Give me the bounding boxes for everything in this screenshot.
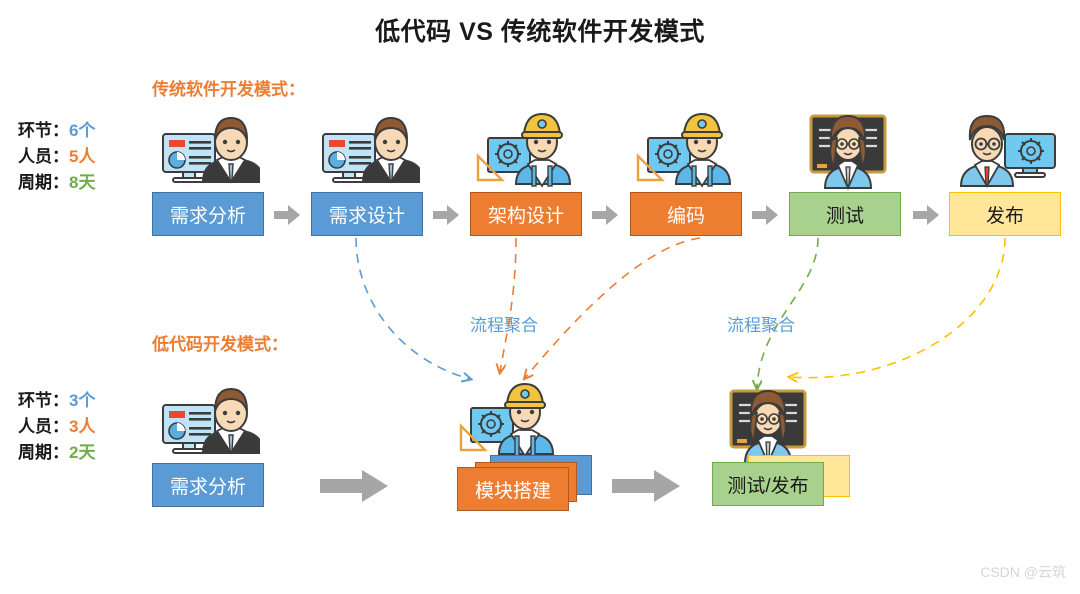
deploy-gear-monitor-icon [955,112,1060,195]
step-label: 编码 [667,201,705,228]
analyst-monitor-icon [155,112,260,195]
step-label: 需求分析 [170,201,246,228]
stat-row: 环节：3个 [18,388,95,414]
lowcode-stats: 环节：3个 人员：3人 周期：2天 [18,388,95,466]
stat-row: 人员：3人 [18,414,95,440]
step-box-testing[interactable]: 测试 [789,192,901,236]
step-box-release[interactable]: 发布 [949,192,1061,236]
stat-key: 人员： [18,417,69,436]
lowcode-section-label: 低代码开发模式： [152,330,288,355]
flow-arrow-icon [590,203,620,232]
stat-key: 人员： [18,147,69,166]
lowcode-step-box-module-build[interactable]: 模块搭建 [457,467,569,511]
page-title: 低代码 VS 传统软件开发模式 [0,12,1080,48]
curve-orange-architecture-to-module [500,238,516,372]
stat-key: 环节： [18,121,69,140]
stat-key: 环节： [18,391,69,410]
step-box-coding[interactable]: 编码 [630,192,742,236]
analyst-monitor-icon [155,383,260,466]
stat-row: 人员：5人 [18,144,95,170]
aggregation-label-right: 流程聚合 [727,311,795,336]
stat-value: 3个 [69,391,95,410]
curve-orange-coding-to-module [525,238,700,378]
stat-key: 周期： [18,173,69,192]
stat-row: 周期：8天 [18,170,95,196]
stat-row: 周期：2天 [18,440,95,466]
step-label: 模块搭建 [475,476,551,503]
step-label: 发布 [986,201,1024,228]
stat-value: 3人 [69,417,95,436]
diagram-canvas: 低代码 VS 传统软件开发模式 传统软件开发模式： 低代码开发模式： 环节：6个… [0,0,1080,594]
lowcode-step-box-test-release[interactable]: 测试/发布 [712,462,824,506]
flow-arrow-icon [750,203,780,232]
step-label: 需求分析 [170,472,246,499]
flow-arrow-large-icon [610,468,682,509]
flow-arrow-icon [431,203,461,232]
step-box-requirement-analysis[interactable]: 需求分析 [152,192,264,236]
curve-yellow-release-to-testrelease [790,238,1005,378]
watermark: CSDN @云筑 [980,562,1066,582]
analyst-monitor-icon [315,112,420,195]
stat-row: 环节：6个 [18,118,95,144]
aggregation-label-left: 流程聚合 [470,311,538,336]
step-label: 测试/发布 [727,471,808,498]
step-label: 需求设计 [329,201,405,228]
traditional-stats: 环节：6个 人员：5人 周期：8天 [18,118,95,196]
step-label: 测试 [826,201,864,228]
tester-blackboard-icon [795,110,900,195]
traditional-section-label: 传统软件开发模式： [152,75,305,100]
engineer-blueprint-icon [472,108,577,195]
flow-arrow-icon [272,203,302,232]
step-box-architecture-design[interactable]: 架构设计 [470,192,582,236]
curve-blue-requirements-to-module [356,238,470,379]
step-box-requirement-design[interactable]: 需求设计 [311,192,423,236]
stat-value: 8天 [69,173,95,192]
step-label: 架构设计 [488,201,564,228]
flow-arrow-large-icon [318,468,390,509]
engineer-blueprint-icon [632,108,737,195]
engineer-blueprint-icon [455,378,560,465]
stat-key: 周期： [18,443,69,462]
flow-arrow-icon [911,203,941,232]
lowcode-step-box-requirement-analysis[interactable]: 需求分析 [152,463,264,507]
stat-value: 6个 [69,121,95,140]
stat-value: 2天 [69,443,95,462]
stat-value: 5人 [69,147,95,166]
